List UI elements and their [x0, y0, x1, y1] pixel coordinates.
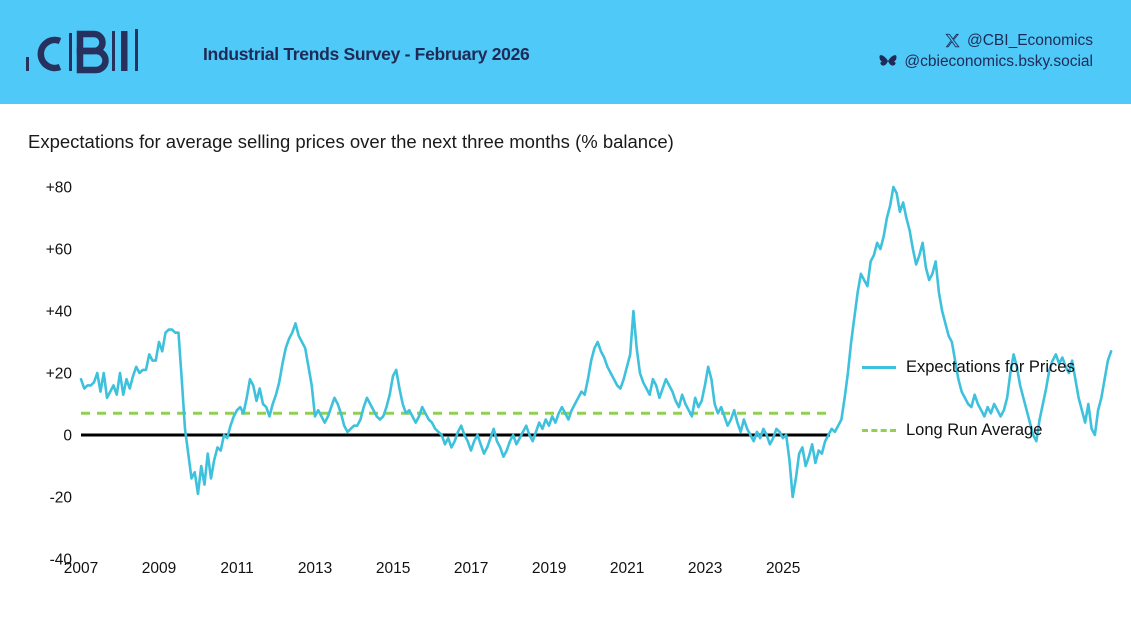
x-axis-tick-label: 2007 [64, 560, 98, 577]
legend-item-long-run-average[interactable]: Long Run Average [862, 421, 1122, 440]
x-axis-tick-label: 2019 [532, 560, 566, 577]
bluesky-handle-label: @cbieconomics.bsky.social [904, 51, 1093, 72]
x-handle-label: @CBI_Economics [967, 30, 1093, 51]
x-axis-tick-label: 2009 [142, 560, 176, 577]
social-row-x[interactable]: @CBI_Economics [879, 30, 1093, 51]
social-handles: @CBI_Economics @cbieconomics.bsky.social [879, 30, 1093, 72]
x-axis-tick-label: 2025 [766, 560, 800, 577]
page-title: Industrial Trends Survey - February 2026 [203, 44, 529, 65]
x-axis-tick-label: 2013 [298, 560, 332, 577]
legend-label-long-run-average: Long Run Average [906, 421, 1042, 440]
y-axis-tick-labels: +80+60+40+200-20-40 [46, 180, 73, 569]
y-axis-tick-label: +80 [46, 180, 73, 197]
x-axis-tick-labels: 2007200920112013201520172019202120232025 [64, 560, 801, 577]
legend-swatch-long-run-average [862, 429, 896, 432]
x-axis-tick-label: 2011 [220, 560, 253, 577]
bluesky-butterfly-icon [879, 54, 897, 69]
x-axis-tick-label: 2021 [610, 560, 644, 577]
x-axis-tick-label: 2015 [376, 560, 410, 577]
y-axis-tick-label: 0 [63, 428, 72, 445]
legend-swatch-series [862, 366, 896, 369]
y-axis-tick-label: -20 [50, 490, 73, 507]
y-axis-tick-label: +60 [46, 242, 73, 259]
legend-label-series: Expectations for Prices [906, 358, 1075, 377]
social-row-bluesky[interactable]: @cbieconomics.bsky.social [879, 51, 1093, 72]
chart-legend: Expectations for Prices Long Run Average [862, 358, 1122, 484]
y-axis-tick-label: +20 [46, 366, 73, 383]
x-twitter-icon [945, 33, 960, 48]
chart-title: Expectations for average selling prices … [28, 131, 674, 153]
y-axis-tick-label: +40 [46, 304, 73, 321]
header-band: Industrial Trends Survey - February 2026… [0, 0, 1131, 104]
x-axis-tick-label: 2023 [688, 560, 722, 577]
cbi-logo [26, 27, 144, 75]
x-axis-tick-label: 2017 [454, 560, 488, 577]
legend-item-expectations-for-prices[interactable]: Expectations for Prices [862, 358, 1122, 377]
